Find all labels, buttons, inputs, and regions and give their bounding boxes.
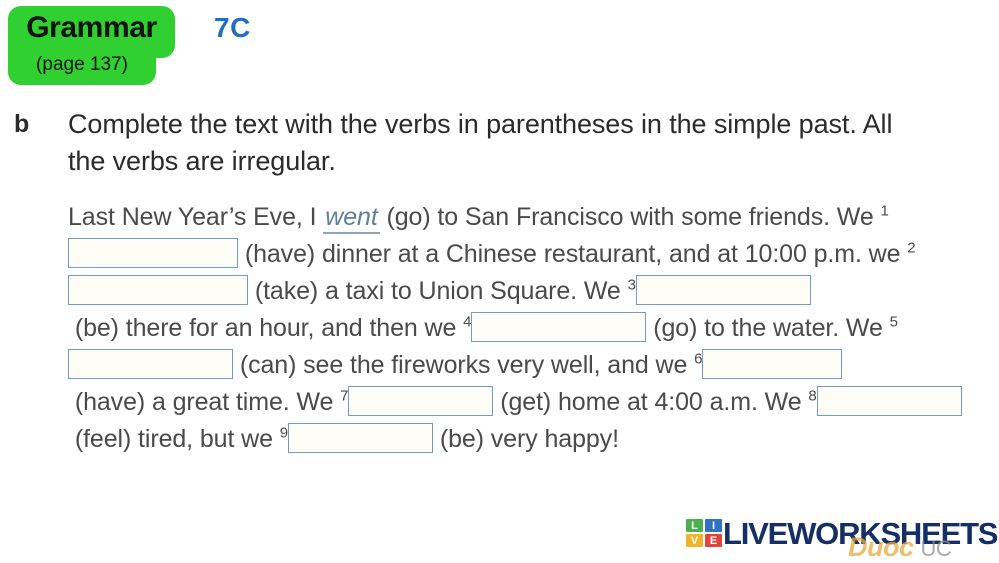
blank-number-5: 5: [890, 314, 898, 331]
grammar-badge-page-label: (page 137): [8, 54, 156, 76]
tile-e: E: [704, 533, 723, 548]
unit-code: 7C: [214, 12, 251, 44]
blank-number-9: 9: [280, 425, 288, 442]
liveworksheets-tiles-icon: L I V E: [685, 518, 723, 548]
text-segment: (be) there for an hour, and then we: [68, 314, 463, 342]
blank-number-6: 6: [694, 351, 702, 368]
grammar-badge: Grammar (page 137): [8, 6, 175, 85]
grammar-badge-title: Grammar: [8, 11, 175, 45]
answer-input-2[interactable]: [68, 275, 248, 305]
liveworksheets-logo: L I V E LIVEWORKSHEETS Duoc UC: [683, 512, 995, 558]
answer-input-4[interactable]: [471, 312, 646, 342]
answer-input-7[interactable]: [348, 386, 493, 416]
exercise-letter: b: [14, 110, 29, 139]
text-segment: (have) dinner at a Chinese restaurant, a…: [238, 240, 907, 268]
blank-number-8: 8: [808, 388, 816, 405]
duoc-uc-watermark: Duoc UC: [848, 532, 951, 563]
tile-v: V: [685, 533, 704, 548]
exercise-paragraph: Last New Year’s Eve, I went (go) to San …: [68, 199, 993, 458]
answer-input-6[interactable]: [702, 349, 842, 379]
answer-input-1[interactable]: [68, 238, 238, 268]
blank-number-2: 2: [907, 240, 915, 257]
answer-input-9[interactable]: [288, 423, 433, 453]
watermark-suffix: UC: [921, 536, 952, 561]
answer-input-5[interactable]: [68, 349, 233, 379]
text-segment: (get) home at 4:00 a.m. We: [493, 388, 808, 416]
answer-input-8[interactable]: [817, 386, 962, 416]
text-segment: (can) see the fireworks very well, and w…: [233, 351, 694, 379]
example-answer: went: [323, 203, 379, 234]
tile-i: I: [704, 518, 723, 533]
text-segment: Last New Year’s Eve, I: [68, 203, 323, 231]
answer-input-3[interactable]: [636, 275, 811, 305]
text-segment: (go) to San Francisco with some friends.…: [380, 203, 881, 231]
tile-l: L: [685, 518, 704, 533]
text-segment: (be) very happy!: [433, 425, 619, 453]
watermark-text: Duoc: [848, 532, 914, 562]
blank-number-7: 7: [340, 388, 348, 405]
blank-number-1: 1: [880, 203, 888, 220]
text-segment: (have) a great time. We: [68, 388, 340, 416]
text-segment: (feel) tired, but we: [68, 425, 280, 453]
blank-number-3: 3: [628, 277, 636, 294]
text-segment: (go) to the water. We: [646, 314, 889, 342]
instruction-text: Complete the text with the verbs in pare…: [68, 106, 928, 180]
blank-number-4: 4: [463, 314, 471, 331]
text-segment: (take) a taxi to Union Square. We: [248, 277, 628, 305]
